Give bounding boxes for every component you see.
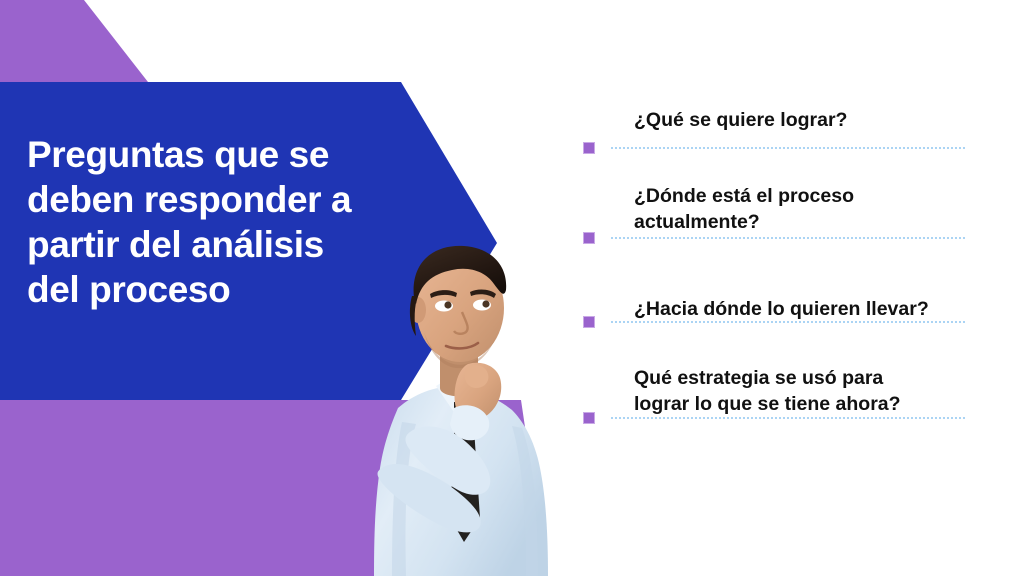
questions-list: ¿Qué se quiere lograr? ¿Dónde está el pr… xyxy=(583,96,983,446)
question-text: ¿Dónde está el proceso actualmente? xyxy=(634,183,974,235)
dotted-rule xyxy=(610,417,965,419)
question-text: Qué estrategia se usó para lograr lo que… xyxy=(634,365,974,417)
person-illustration xyxy=(362,236,562,576)
title-block: Preguntas que se deben responder a parti… xyxy=(27,132,397,312)
dotted-rule xyxy=(610,237,965,239)
dotted-rule xyxy=(610,147,965,149)
question-text: ¿Hacia dónde lo quieren llevar? xyxy=(634,296,974,322)
square-bullet-icon xyxy=(583,412,595,424)
slide-canvas: Preguntas que se deben responder a parti… xyxy=(0,0,1024,576)
square-bullet-icon xyxy=(583,232,595,244)
square-bullet-icon xyxy=(583,316,595,328)
square-bullet-icon xyxy=(583,142,595,154)
pupil-right xyxy=(482,300,489,307)
page-title: Preguntas que se deben responder a parti… xyxy=(27,132,397,312)
purple-top-banner-shape xyxy=(0,0,148,82)
person-photo xyxy=(362,236,562,576)
pupil-left xyxy=(444,301,451,308)
question-text: ¿Qué se quiere lograr? xyxy=(634,107,974,133)
